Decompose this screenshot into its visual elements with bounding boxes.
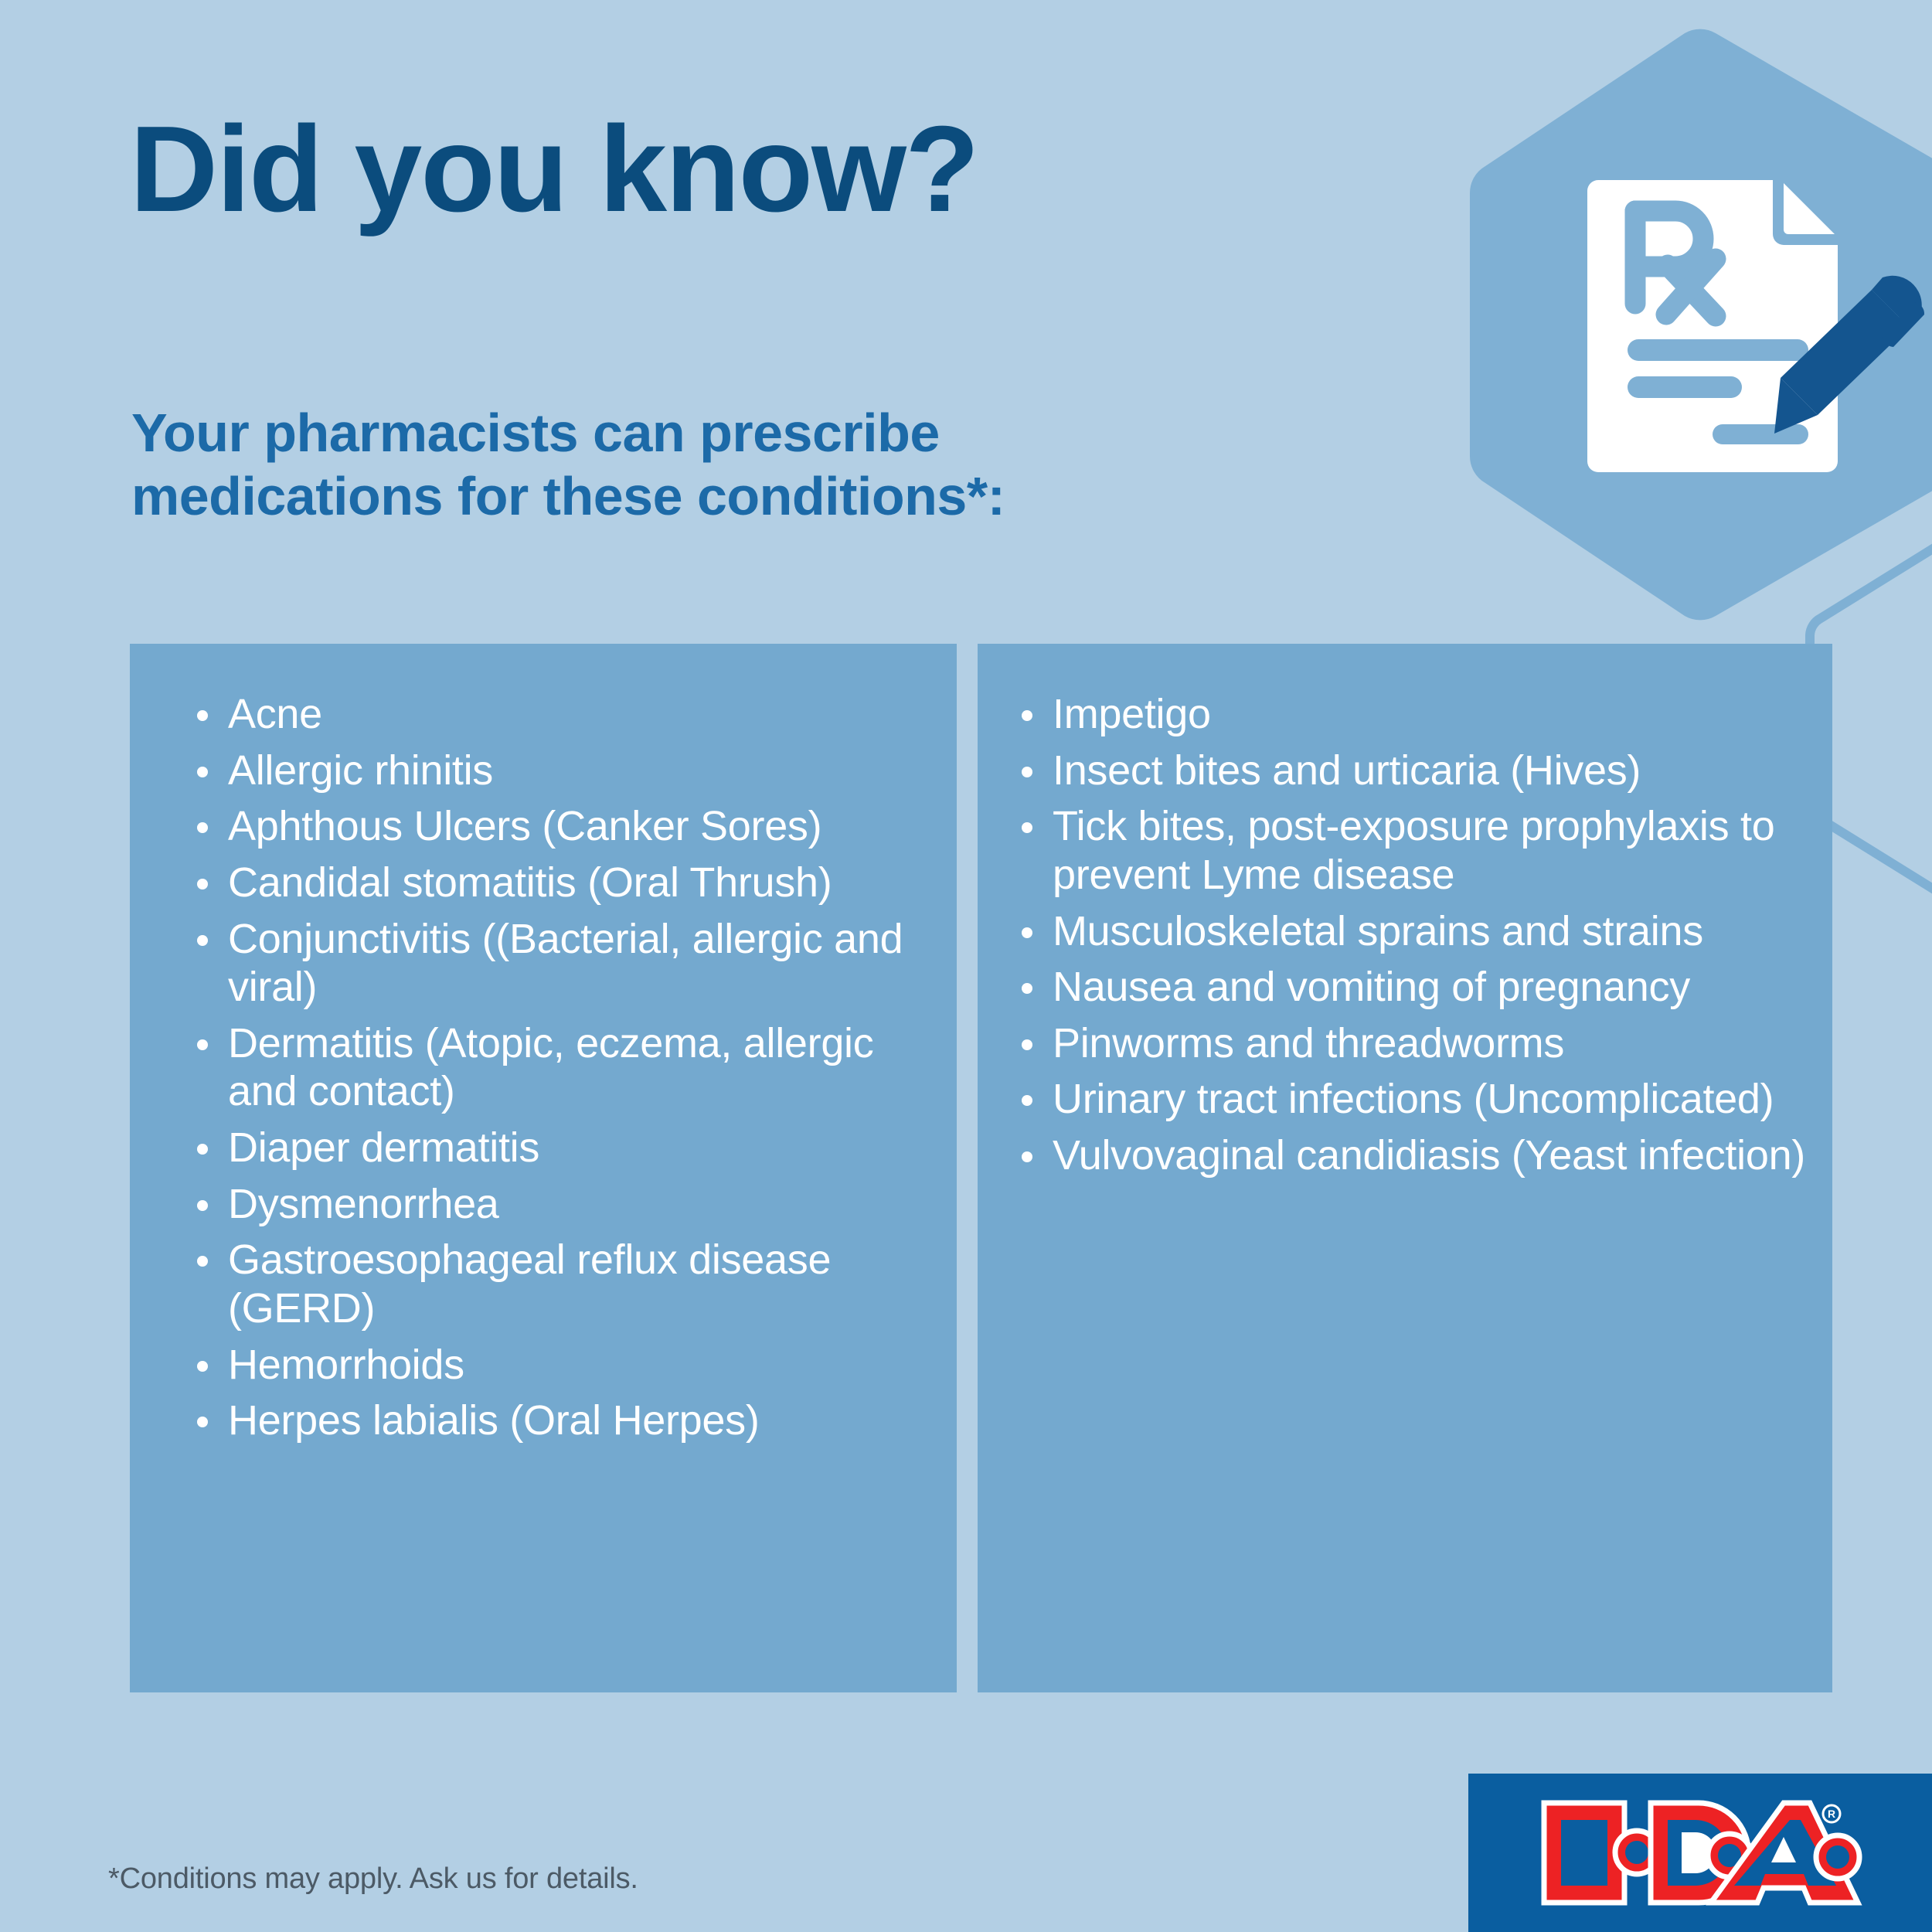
list-item: Acne: [196, 690, 934, 739]
list-item: Diaper dermatitis: [196, 1124, 934, 1172]
condition-label: Conjunctivitis ((Bacterial, allergic and…: [228, 916, 903, 1011]
list-item: Hemorrhoids: [196, 1341, 934, 1389]
conditions-list-left: Acne Allergic rhinitis Aphthous Ulcers (…: [130, 644, 957, 1445]
list-item: Vulvovaginal candidiasis (Yeast infectio…: [1020, 1131, 1809, 1180]
condition-label: Aphthous Ulcers (Canker Sores): [228, 803, 821, 849]
bullet-icon: [1022, 1095, 1032, 1106]
bullet-icon: [1022, 710, 1032, 721]
list-item: Dysmenorrhea: [196, 1180, 934, 1229]
condition-label: Pinworms and threadworms: [1053, 1020, 1564, 1066]
subtitle-line-2: medications for these conditions*:: [131, 465, 1306, 529]
list-item: Aphthous Ulcers (Canker Sores): [196, 802, 934, 851]
bullet-icon: [197, 822, 208, 833]
bullet-icon: [197, 935, 208, 946]
bullet-icon: [1022, 1151, 1032, 1162]
list-item: Impetigo: [1020, 690, 1809, 739]
condition-label: Tick bites, post-exposure prophylaxis to…: [1053, 803, 1774, 898]
condition-label: Dermatitis (Atopic, eczema, allergic and…: [228, 1020, 873, 1115]
list-item: Nausea and vomiting of pregnancy: [1020, 963, 1809, 1012]
condition-label: Diaper dermatitis: [228, 1124, 539, 1171]
conditions-card-right: Impetigo Insect bites and urticaria (Hiv…: [978, 644, 1832, 1692]
condition-label: Allergic rhinitis: [228, 747, 493, 794]
condition-label: Impetigo: [1053, 691, 1211, 737]
condition-label: Vulvovaginal candidiasis (Yeast infectio…: [1053, 1132, 1805, 1179]
list-item: Dermatitis (Atopic, eczema, allergic and…: [196, 1019, 934, 1116]
pen-icon: [1774, 276, 1924, 434]
bullet-icon: [197, 1417, 208, 1427]
condition-label: Hemorrhoids: [228, 1342, 464, 1388]
ida-logo-icon: R: [1538, 1797, 1870, 1909]
list-item: Gastroesophageal reflux disease (GERD): [196, 1236, 934, 1332]
bullet-icon: [197, 767, 208, 777]
list-item: Herpes labialis (Oral Herpes): [196, 1396, 934, 1445]
condition-label: Musculoskeletal sprains and strains: [1053, 908, 1703, 954]
page-subtitle: Your pharmacists can prescribe medicatio…: [131, 402, 1306, 529]
hexagon-filled-icon: [1461, 19, 1932, 630]
list-item: Candidal stomatitis (Oral Thrush): [196, 859, 934, 907]
condition-label: Dysmenorrhea: [228, 1181, 499, 1227]
list-item: Pinworms and threadworms: [1020, 1019, 1809, 1068]
footnote-text: *Conditions may apply. Ask us for detail…: [108, 1862, 638, 1896]
page-title: Did you know?: [130, 108, 978, 230]
bullet-icon: [1022, 983, 1032, 994]
bullet-icon: [197, 1256, 208, 1267]
infographic-poster: Did you know? Your pharmacists can presc…: [0, 0, 1932, 1932]
conditions-list-right: Impetigo Insect bites and urticaria (Hiv…: [978, 644, 1832, 1180]
subtitle-line-1: Your pharmacists can prescribe: [131, 402, 1306, 465]
condition-label: Insect bites and urticaria (Hives): [1053, 747, 1641, 794]
conditions-card-left: Acne Allergic rhinitis Aphthous Ulcers (…: [130, 644, 957, 1692]
list-item: Conjunctivitis ((Bacterial, allergic and…: [196, 915, 934, 1012]
condition-label: Urinary tract infections (Uncomplicated): [1053, 1076, 1774, 1122]
list-item: Tick bites, post-exposure prophylaxis to…: [1020, 802, 1809, 899]
condition-label: Acne: [228, 691, 322, 737]
bullet-icon: [1022, 767, 1032, 777]
bullet-icon: [1022, 927, 1032, 938]
svg-text:R: R: [1828, 1808, 1835, 1820]
condition-label: Nausea and vomiting of pregnancy: [1053, 964, 1690, 1010]
ida-logo-band: R: [1468, 1774, 1932, 1932]
condition-label: Candidal stomatitis (Oral Thrush): [228, 859, 832, 906]
bullet-icon: [197, 710, 208, 721]
prescription-document-icon: [1587, 180, 1838, 472]
condition-label: Herpes labialis (Oral Herpes): [228, 1397, 760, 1444]
bullet-icon: [197, 1361, 208, 1372]
bullet-icon: [1022, 822, 1032, 833]
bullet-icon: [197, 1144, 208, 1155]
list-item: Allergic rhinitis: [196, 747, 934, 795]
bullet-icon: [197, 1200, 208, 1211]
bullet-icon: [197, 879, 208, 889]
list-item: Insect bites and urticaria (Hives): [1020, 747, 1809, 795]
bullet-icon: [1022, 1039, 1032, 1050]
condition-label: Gastroesophageal reflux disease (GERD): [228, 1236, 831, 1332]
list-item: Musculoskeletal sprains and strains: [1020, 907, 1809, 956]
bullet-icon: [197, 1039, 208, 1050]
list-item: Urinary tract infections (Uncomplicated): [1020, 1075, 1809, 1124]
